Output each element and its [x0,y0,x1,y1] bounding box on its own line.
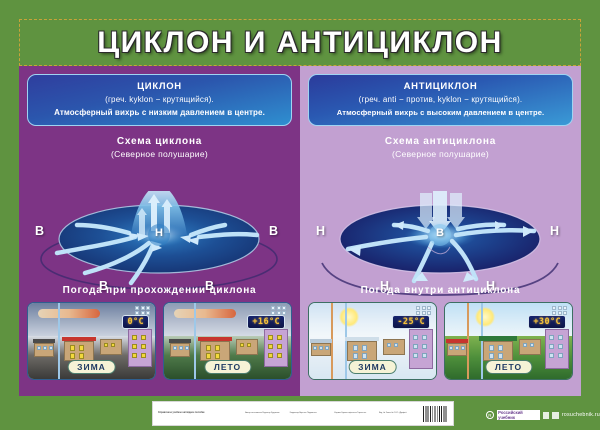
window [37,346,41,350]
footer-col-5: Изд. № Заказ № ООО «Дрофа» [379,412,424,415]
window [413,353,418,358]
sun-icon [475,307,495,327]
temperature-display: 0°C [122,315,149,329]
window [240,343,244,347]
window [387,343,391,347]
window [132,353,137,358]
window [549,353,554,358]
anticyclone-edge-label-left: Н [316,224,325,238]
copyright-icon: R [486,411,494,419]
window [549,335,554,340]
anticyclone-term: АНТИЦИКЛОН [309,81,572,92]
anticyclone-edge-label-right: Н [550,224,559,238]
window [141,353,146,358]
barcode-icon [423,406,448,422]
window [549,344,554,349]
window [489,353,494,359]
roof [33,339,55,343]
window [185,346,189,350]
window [268,353,273,358]
window [132,344,137,349]
window [277,344,282,349]
window [215,345,220,351]
house-mid [383,339,405,355]
anticyclone-scheme-title: Схема антициклона [300,136,581,147]
window [268,344,273,349]
window [461,346,465,350]
roof [345,337,379,341]
window [132,335,137,340]
window [179,346,183,350]
cloud-band-icon [174,309,236,318]
social-icon[interactable] [543,412,550,419]
window [215,353,220,359]
footer-col-4: Формат Бумага офсетная Тираж экз. [334,412,379,415]
window [268,335,273,340]
window [325,346,329,350]
anticyclone-scheme-caption: Схема антициклона (Северное полушарие) [300,136,581,159]
window [362,353,367,359]
roof [169,339,191,343]
window [498,353,503,359]
window [206,353,211,359]
footer-col-1: Справочное учебное наглядное пособие [158,412,245,415]
window [362,345,367,351]
panel-cyclone: ЦИКЛОН (греч. kyklon − крутящийся). Атмо… [19,66,300,396]
pole [194,303,196,380]
cyclone-etymology: (греч. kyklon − крутящийся). [28,95,291,104]
cyclone-scheme-subtitle: (Северное полушарие) [19,149,300,159]
publisher-brand[interactable]: R Российский учебник rosuchebnik.ru [486,410,600,420]
window [277,335,282,340]
anticyclone-winter-photo[interactable]: -25°C ЗИМА [308,302,437,380]
temperature-display: +30°C [528,315,566,329]
roof [198,337,232,341]
roof [479,336,517,341]
window [530,343,534,347]
cyclone-scheme-caption: Схема циклона (Северное полушарие) [19,136,300,159]
window-grid-icon [135,306,150,315]
season-badge: ЗИМА [348,360,397,374]
window [455,346,459,350]
cyclone-weather-heading: Погода при прохождении циклона [19,282,300,298]
season-badge: ЛЕТО [204,360,251,374]
footer-imprint: Справочное учебное наглядное пособие Авт… [152,401,454,426]
brand-url[interactable]: rosuchebnik.ru [562,412,600,418]
season-badge: ЗИМА [67,360,116,374]
footer-col-2: Автор-составитель Редактор Художник [245,412,290,415]
window [353,345,358,351]
cyclone-description: Атмосферный вихрь с низким давлением в ц… [28,108,291,117]
window [498,345,503,351]
window [413,344,418,349]
roof [310,339,332,343]
window-grid-icon [271,306,286,315]
window [141,335,146,340]
brand-name: Российский учебник [497,410,540,420]
window [173,346,177,350]
window [313,346,317,350]
cyclone-definition-box: ЦИКЛОН (греч. kyklon − крутящийся). Атмо… [27,74,292,126]
cloud-band-icon [38,309,100,318]
house-mid [236,339,258,355]
anticyclone-center-pressure-label: В [436,227,444,239]
window [247,343,251,347]
window [319,346,323,350]
window [558,344,563,349]
anticyclone-definition-box: АНТИЦИКЛОН (греч. anti − против, kyklon … [308,74,573,126]
window [394,343,398,347]
footer-col-3: Корректор Верстка Подписано [290,412,335,415]
roof [446,339,468,343]
window [49,346,53,350]
cyclone-summer-photo[interactable]: +16°C ЛЕТО [163,302,292,380]
season-badge: ЛЕТО [485,360,532,374]
temperature-display: -25°C [392,315,430,329]
window [523,343,527,347]
house-mid [100,339,122,355]
anticyclone-summer-photo[interactable]: +30°C ЛЕТО [444,302,573,380]
cyclone-center-pressure-label: Н [155,227,163,239]
anticyclone-etymology: (греч. anti − против, kyklon − крутящийс… [309,95,572,104]
window [141,344,146,349]
window [79,345,84,351]
cyclone-photo-row: 0°C ЗИМА [27,302,292,380]
window [70,345,75,351]
pole [58,303,60,380]
window [43,346,47,350]
window [422,344,427,349]
window [558,353,563,358]
window-grid-icon [416,306,431,315]
window [79,353,84,359]
anticyclone-photo-row: -25°C ЗИМА [308,302,573,380]
poster-root: ЦИКЛОН И АНТИЦИКЛОН ЦИКЛОН (греч. kyklon… [0,0,600,430]
cyclone-scheme-title: Схема циклона [19,136,300,147]
window [70,353,75,359]
roof [62,337,96,341]
page-title: ЦИКЛОН И АНТИЦИКЛОН [19,22,581,64]
window-grid-icon [552,306,567,315]
window [104,343,108,347]
house-mid [519,339,541,355]
window [422,335,427,340]
window [353,353,358,359]
cyclone-winter-photo[interactable]: 0°C ЗИМА [27,302,156,380]
cyclone-edge-label-left: В [35,224,44,238]
cyclone-edge-label-right: В [269,224,278,238]
window [558,335,563,340]
window [489,345,494,351]
window [449,346,453,350]
temperature-display: +16°C [247,315,285,329]
window [422,353,427,358]
social-icon-2[interactable] [552,412,559,419]
window [277,353,282,358]
window [111,343,115,347]
window [206,345,211,351]
anticyclone-scheme-subtitle: (Северное полушарие) [300,149,581,159]
anticyclone-weather-heading: Погода внутри антициклона [300,282,581,298]
window [413,335,418,340]
cyclone-term: ЦИКЛОН [28,81,291,92]
anticyclone-description: Атмосферный вихрь с высоким давлением в … [309,108,572,117]
sun-icon [339,307,359,327]
panel-anticyclone: АНТИЦИКЛОН (греч. anti − против, kyklon … [300,66,581,396]
